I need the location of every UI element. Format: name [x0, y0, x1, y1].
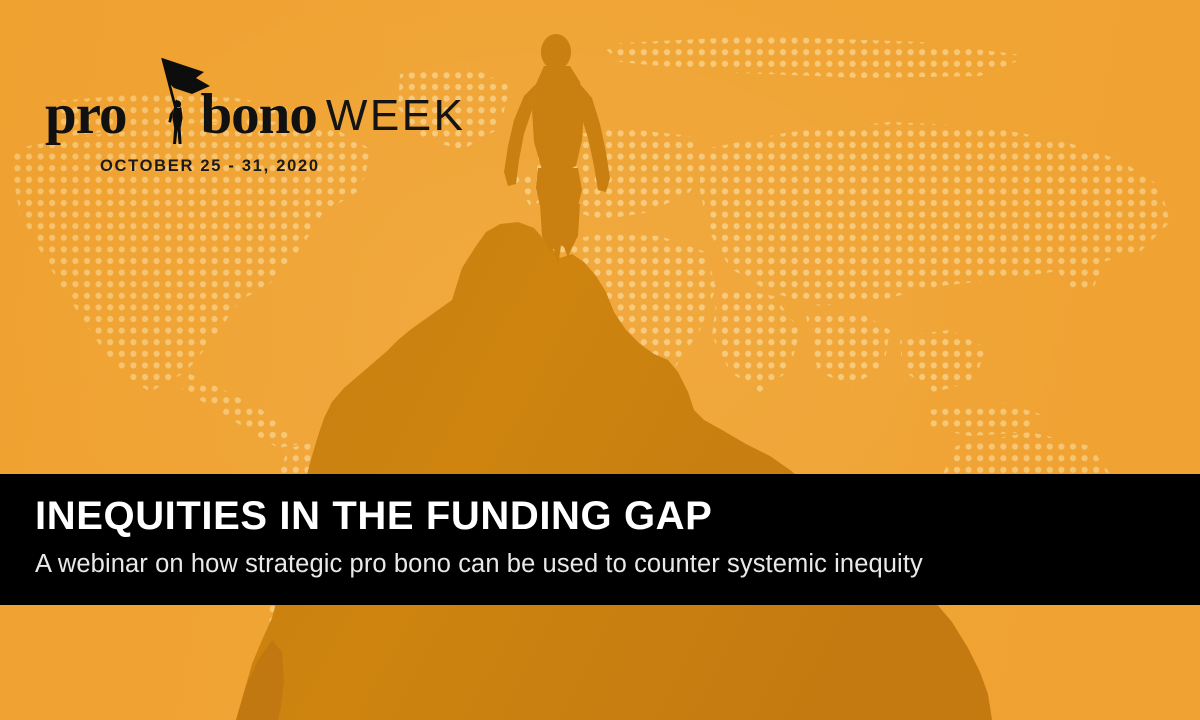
banner-subtitle: A webinar on how strategic pro bono can … [35, 552, 1200, 578]
title-banner: INEQUITIES IN THE FUNDING GAP A webinar … [0, 474, 1200, 605]
logo-mark: probonoWEEK [45, 58, 385, 144]
logo-wordmark: probonoWEEK [45, 86, 465, 143]
banner-title: INEQUITIES IN THE FUNDING GAP [35, 496, 1200, 536]
logo-word-pro: pro [45, 83, 126, 146]
logo-word-week: WEEK [326, 91, 466, 140]
pro-bono-week-logo: probonoWEEK OCTOBER 25 - 31, 2020 [45, 58, 385, 144]
logo-word-bono: bono [200, 83, 316, 146]
event-date: OCTOBER 25 - 31, 2020 [100, 157, 320, 176]
poster-canvas: probonoWEEK OCTOBER 25 - 31, 2020 INEQUI… [0, 0, 1200, 720]
